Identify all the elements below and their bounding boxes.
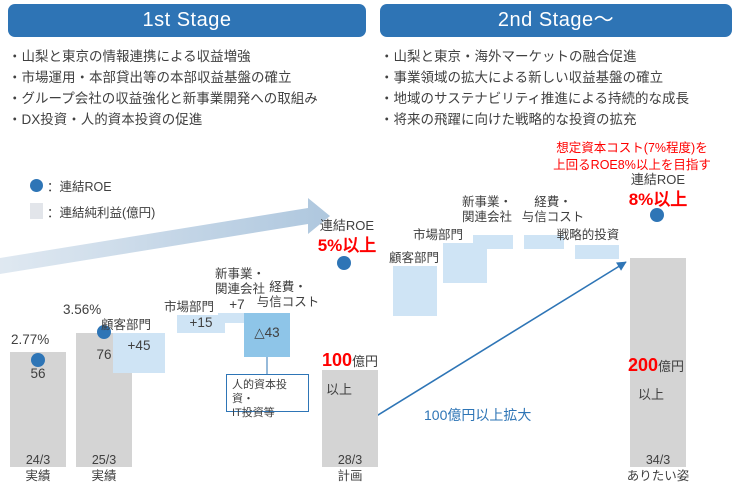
wf2-cost-caption-line2: 与信コスト [521,210,585,225]
roe-dot-24-3 [31,353,45,367]
legend-item-roe: ：連結ROE [30,172,155,198]
stage-1-bullet: ・市場運用・本部貸出等の本部収益基盤の確立 [8,67,366,88]
wf1-cost-caption-line1: 経費・ [252,280,324,295]
wf1-customer-caption: 顧客部門 [96,318,156,333]
axis-label-24-3: 24/3 実績 [6,452,70,484]
bar-28-3-amount-number: 100 [322,350,352,370]
stage-1-title: 1st Stage [8,4,366,37]
roe-label-24-3: 2.77% [11,332,49,347]
wf2-strategic-caption: 戦略的投資 [552,228,624,243]
axis-kind: 実績 [6,468,70,484]
wf2-market-box [443,243,487,283]
stage-2-bullet: ・事業領域の拡大による新しい収益基盤の確立 [380,67,732,88]
growth-annotation: 100億円以上拡大 [424,405,531,425]
roe-label-25-3: 3.56% [63,302,101,317]
roe-value-28-3: 5%以上 [307,231,387,256]
gray-square-icon [30,203,43,219]
axis-label-25-3: 25/3 実績 [72,452,136,484]
wf2-newbiz-caption-line1: 新事業・ [455,195,519,210]
wf2-newbiz-box [473,235,513,249]
wf1-investment-note: 人的資本投資・ IT投資等 [226,374,309,412]
capital-cost-annotation: 想定資本コスト(7%程度)を 上回るROE8%以上を目指す [528,140,736,174]
capital-cost-annotation-line2: 上回るROE8%以上を目指す [528,157,736,174]
axis-period: 28/3 [318,452,382,468]
bar-34-3-amount-unit: 億円 [658,359,684,374]
wf1-cost-caption-line2: 与信コスト [252,295,324,310]
legend-label-profit: ：連結純利益(億円) [47,202,155,221]
stage-1-bullet: ・山梨と東京の情報連携による収益増強 [8,46,366,67]
bar-34-3-amount-number: 200 [628,355,658,375]
wf2-customer-caption: 顧客部門 [384,251,444,266]
bar-24-3-value: 56 [10,366,66,381]
stage-2-block: 2nd Stage～ ・山梨と東京・海外マーケットの融合促進 ・事業領域の拡大に… [380,4,732,130]
roe-value-34-3: 8%以上 [615,185,701,210]
legend-label-roe: ：連結ROE [47,176,112,195]
wf2-cost-caption-line1: 経費・ [521,195,585,210]
chart-legend: ：連結ROE ：連結純利益(億円) [30,172,155,224]
wf2-cost-caption: 経費・ 与信コスト [521,195,585,225]
roe-dot-34-3 [650,208,664,222]
roe-dot-28-3 [337,256,351,270]
stage-1-block: 1st Stage ・山梨と東京の情報連携による収益増強 ・市場運用・本部貸出等… [8,4,366,130]
wf1-cost-caption: 経費・ 与信コスト [252,280,324,310]
legend-item-profit: ：連結純利益(億円) [30,198,155,224]
bar-28-3-amount: 100億円 [322,350,402,371]
axis-label-34-3: 34/3 ありたい姿 [616,452,700,484]
wf2-newbiz-caption-line2: 関連会社 [455,210,519,225]
wf2-customer-box [393,266,437,316]
wf1-cost-value: △43 [244,325,290,341]
stage-2-bullet: ・山梨と東京・海外マーケットの融合促進 [380,46,732,67]
axis-label-28-3: 28/3 計画 [318,452,382,484]
axis-kind: ありたい姿 [616,468,700,484]
stage-1-bullet: ・グループ会社の収益強化と新事業開発への取組み [8,88,366,109]
wf1-investment-note-line2: IT投資等 [232,406,303,420]
wf2-newbiz-caption: 新事業・ 関連会社 [455,195,519,225]
stage-2-bullet: ・地域のサステナビリティ推進による持続的な成長 [380,88,732,109]
bar-28-3-amount-unit: 億円 [352,354,378,369]
wf2-market-caption: 市場部門 [408,228,468,243]
stage-1-bullet: ・DX投資・人的資本投資の促進 [8,109,366,130]
wf1-investment-note-line1: 人的資本投資・ [232,378,303,406]
wf1-market-caption: 市場部門 [159,300,219,315]
wf1-customer-value: +45 [113,338,165,353]
capital-cost-annotation-line1: 想定資本コスト(7%程度)を [528,140,736,157]
bar-34-3-amount: 200億円 [628,355,718,376]
bar-34-3-amount-suffix: 以上 [638,384,664,403]
stage-2-bullet: ・将来の飛躍に向けた戦略的な投資の拡充 [380,109,732,130]
blue-circle-icon [30,179,43,192]
stage-2-title: 2nd Stage～ [380,4,732,37]
axis-period: 25/3 [72,452,136,468]
axis-kind: 実績 [72,468,136,484]
axis-period: 34/3 [616,452,700,468]
axis-kind: 計画 [318,468,382,484]
bar-28-3-amount-suffix: 以上 [326,379,352,398]
stage-2-bullets: ・山梨と東京・海外マーケットの融合促進 ・事業領域の拡大による新しい収益基盤の確… [380,46,732,130]
axis-period: 24/3 [6,452,70,468]
wf2-strategic-box [575,245,619,259]
stage-1-bullets: ・山梨と東京の情報連携による収益増強 ・市場運用・本部貸出等の本部収益基盤の確立… [8,46,366,130]
